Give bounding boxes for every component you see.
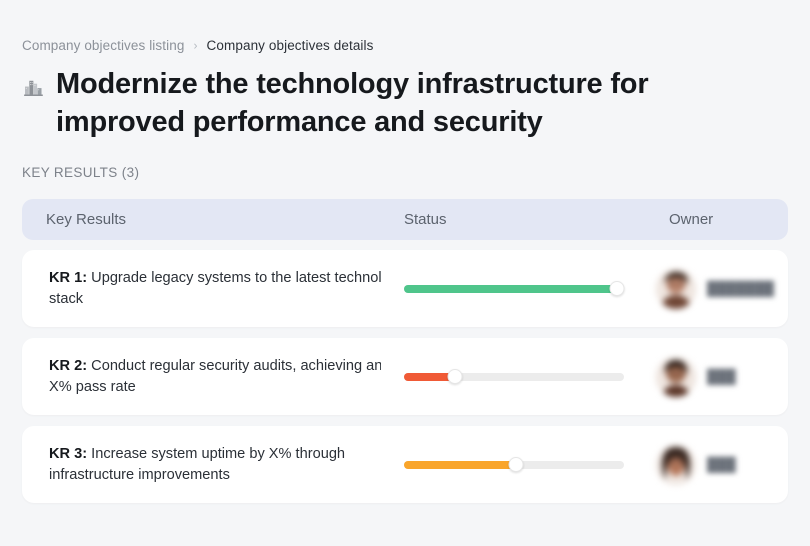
status-cell: [402, 368, 632, 386]
key-result-description: KR 3: Increase system uptime by X% throu…: [22, 444, 402, 485]
breadcrumb-current-details: Company objectives details: [207, 38, 374, 53]
table-rows: KR 1: Upgrade legacy systems to the late…: [22, 250, 788, 503]
table-row[interactable]: KR 2: Conduct regular security audits, a…: [22, 338, 788, 415]
status-cell: [402, 456, 632, 474]
key-result-label: KR 2:: [49, 358, 87, 374]
progress-slider[interactable]: [404, 456, 624, 474]
key-result-text: Increase system uptime by X% through inf…: [49, 446, 345, 483]
page-title: Modernize the technology infrastructure …: [56, 66, 682, 142]
cityscape-icon: [22, 72, 46, 102]
slider-handle[interactable]: [610, 281, 625, 296]
table-header: Key Results Status Owner: [22, 199, 788, 240]
key-result-text: Upgrade legacy systems to the latest tec…: [49, 270, 381, 307]
key-results-section-label: KEY RESULTS (3): [22, 165, 139, 180]
objective-details-page: Company objectives listing › Company obj…: [0, 0, 810, 546]
avatar: [656, 445, 696, 485]
progress-slider[interactable]: [404, 280, 624, 298]
table-row[interactable]: KR 1: Upgrade legacy systems to the late…: [22, 250, 788, 327]
slider-fill: [404, 285, 617, 293]
avatar: [656, 269, 696, 309]
owner-name: ███████: [707, 281, 774, 296]
key-result-text: Conduct regular security audits, achievi…: [49, 358, 381, 395]
breadcrumb: Company objectives listing › Company obj…: [22, 38, 373, 53]
owner-cell: ███: [632, 357, 788, 397]
key-result-description: KR 1: Upgrade legacy systems to the late…: [22, 268, 402, 309]
slider-handle[interactable]: [447, 369, 462, 384]
key-results-table: Key Results Status Owner KR 1: Upgrade l…: [22, 199, 788, 503]
key-result-label: KR 1:: [49, 270, 87, 286]
owner-name: ███: [707, 457, 736, 472]
progress-slider[interactable]: [404, 368, 624, 386]
key-result-label: KR 3:: [49, 446, 87, 462]
slider-handle[interactable]: [509, 457, 524, 472]
page-title-row: Modernize the technology infrastructure …: [22, 66, 682, 142]
column-header-key-results: Key Results: [22, 211, 402, 228]
chevron-right-icon: ›: [193, 39, 197, 51]
slider-fill: [404, 461, 516, 469]
owner-name: ███: [707, 369, 736, 384]
owner-cell: ███: [632, 445, 788, 485]
column-header-status: Status: [402, 211, 632, 228]
table-row[interactable]: KR 3: Increase system uptime by X% throu…: [22, 426, 788, 503]
breadcrumb-link-listing[interactable]: Company objectives listing: [22, 38, 184, 53]
avatar: [656, 357, 696, 397]
key-result-description: KR 2: Conduct regular security audits, a…: [22, 356, 402, 397]
status-cell: [402, 280, 632, 298]
column-header-owner: Owner: [632, 211, 788, 228]
owner-cell: ███████: [632, 269, 788, 309]
